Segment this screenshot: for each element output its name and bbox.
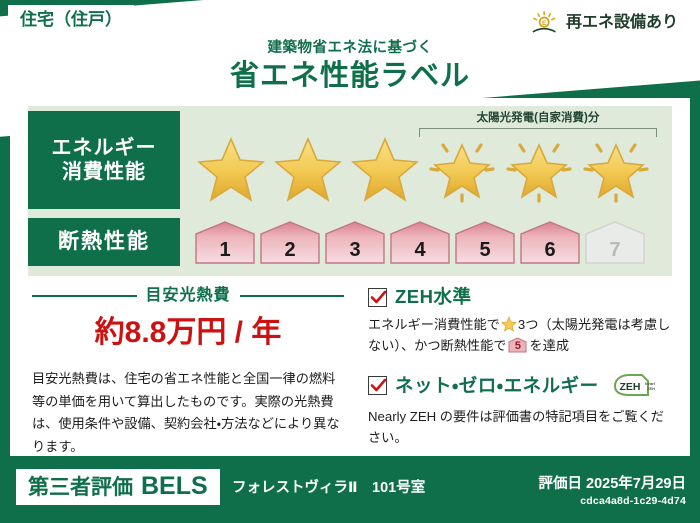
star-icon [194,131,268,205]
utility-cost-heading-text: 目安光熱費 [146,288,231,304]
insulation-grade-scale: 1 2 3 4 5 [194,220,646,265]
net-zero-energy-item: ネット・ゼロ・エネルギー ZEH Nearly ZEH Nearly ZEH の… [368,373,674,449]
lower-section: 目安光熱費 約8.8万円 / 年 目安光熱費は、住宅の省エネ性能と全国一律の燃料… [10,282,690,454]
insulation-performance-label: 断熱性能 [28,218,180,266]
bels-certification-chip: 第三者評価 BELS [16,469,220,505]
solar-bracket-label: 太陽光発電(自家消費)分 [419,113,657,125]
svg-text:ZEH: ZEH [647,386,655,391]
insulation-grade-5-number: 5 [454,240,516,260]
evaluation-date: 評価日 2025年7月29日 [539,475,686,493]
zeh-body-star-count: 3つ [518,317,539,332]
insulation-grade-7-number: 7 [584,240,646,260]
bels-chip-en: BELS [141,474,208,499]
heading-title: 省エネ性能ラベル [0,58,700,94]
renewable-energy-badge: E 再エネ設備あり [523,5,690,42]
insulation-grade-4-number: 4 [389,240,451,260]
svg-text:ZEH: ZEH [619,381,640,393]
star-icon-solar [579,131,653,205]
zeh-house-logo: ZEH Nearly ZEH [609,373,655,399]
net-zero-energy-body: Nearly ZEH の要件は評価書の特記項目をご覧ください。 [368,406,674,449]
star-icon-inline [501,316,517,332]
energy-label-line2: 消費性能 [52,160,157,184]
insulation-grade-1: 1 [194,220,256,265]
energy-performance-row: エネルギー 消費性能 太陽光発電(自家消費)分 [28,111,659,209]
insulation-grade-5: 5 [454,220,516,265]
energy-performance-label: エネルギー 消費性能 [28,111,180,209]
zeh-standard-title: ZEH水準 [395,288,472,307]
energy-label-root: 住宅（住戸） E 再エネ設備あり 建築物省エネ法に基づく 省エネ性能ラベル [0,0,700,523]
star-icon-solar [425,131,499,205]
category-chip: 住宅（住戸） [8,5,134,35]
insulation-performance-row: 断熱性能 1 2 3 4 [28,218,646,266]
label-heading: 建築物省エネ法に基づく 省エネ性能ラベル [0,40,700,95]
evaluation-uid: cdca4a8d-1c29-4d74 [539,495,686,508]
utility-cost-note: 目安光熱費は、住宅の省エネ性能と全国一律の燃料等の単価を用いて算出したものです。… [32,368,344,459]
zeh-column: ZEH水準 エネルギー消費性能で3つ（太陽光発電は考慮しない）、かつ断熱性能で5… [362,282,690,454]
stars-row [194,131,653,205]
checkmark-icon [368,288,387,307]
zeh-standard-item: ZEH水準 エネルギー消費性能で3つ（太陽光発電は考慮しない）、かつ断熱性能で5… [368,288,674,357]
utility-cost-value: 約8.8万円 / 年 [32,318,344,348]
zeh-standard-header: ZEH水準 [368,288,674,307]
svg-text:E: E [542,20,547,27]
insulation-grade-4: 4 [389,220,451,265]
sun-icon: E [531,11,559,35]
net-zero-energy-title: ネット・ゼロ・エネルギー [395,377,599,396]
evaluation-info: 評価日 2025年7月29日 cdca4a8d-1c29-4d74 [539,475,686,508]
insulation-grade-3: 3 [324,220,386,265]
star-rating-group: 太陽光発電(自家消費)分 [194,111,659,209]
inline-grade-number: 5 [508,341,527,352]
utility-cost-heading: 目安光熱費 [32,288,344,304]
heading-subtitle: 建築物省エネ法に基づく [0,40,700,57]
zeh-body-text-3: を達成 [529,338,569,353]
performance-panel: エネルギー 消費性能 太陽光発電(自家消費)分 [28,106,672,276]
insulation-grade-6-number: 6 [519,240,581,260]
insulation-grade-6: 6 [519,220,581,265]
insulation-grade-7: 7 [584,220,646,265]
heading-rule-left [32,295,137,297]
bels-chip-jp: 第三者評価 [28,477,133,498]
building-name: フォレストヴィラⅡ 101号室 [232,481,425,496]
label-footer: 第三者評価 BELS フォレストヴィラⅡ 101号室 評価日 2025年7月29… [0,461,700,523]
checkmark-icon [368,376,387,395]
insulation-grade-3-number: 3 [324,240,386,260]
heading-rule-right [240,295,345,297]
insulation-grade-1-number: 1 [194,240,256,260]
star-icon [348,131,422,205]
utility-cost-column: 目安光熱費 約8.8万円 / 年 目安光熱費は、住宅の省エネ性能と全国一律の燃料… [10,282,362,454]
zeh-body-text-1: エネルギー消費性能で [368,317,500,332]
insulation-grade-2-number: 2 [259,240,321,260]
insulation-grade-icon-inline: 5 [508,337,527,353]
energy-label-line1: エネルギー [52,136,157,160]
insulation-grade-2: 2 [259,220,321,265]
zeh-standard-body: エネルギー消費性能で3つ（太陽光発電は考慮しない）、かつ断熱性能で5を達成 [368,314,674,357]
star-icon-solar [502,131,576,205]
main-card: エネルギー 消費性能 太陽光発電(自家消費)分 [10,98,690,456]
renewable-badge-label: 再エネ設備あり [566,15,678,31]
star-icon [271,131,345,205]
net-zero-energy-header: ネット・ゼロ・エネルギー ZEH Nearly ZEH [368,373,674,399]
